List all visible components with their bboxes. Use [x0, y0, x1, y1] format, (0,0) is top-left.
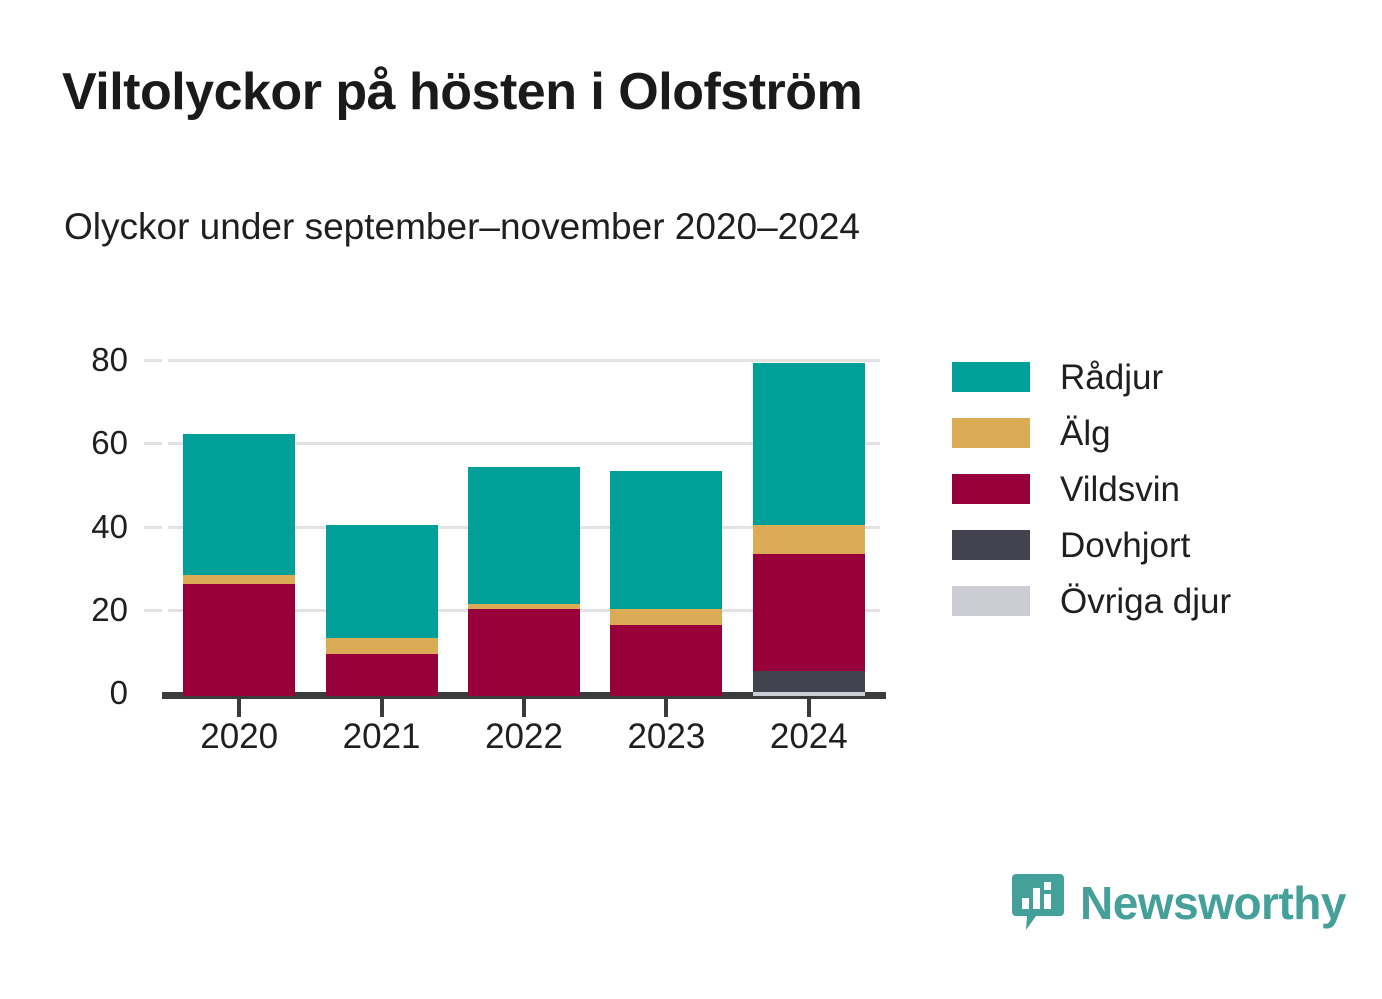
legend-item-4[interactable]: Övriga djur — [952, 573, 1352, 629]
legend-label: Vildsvin — [1060, 472, 1180, 507]
bar-segment[interactable] — [326, 525, 438, 637]
x-tick-label-2022: 2022 — [454, 718, 594, 757]
legend-item-0[interactable]: Rådjur — [952, 349, 1352, 405]
x-tick-label-2020: 2020 — [169, 718, 309, 757]
bar-group-2024[interactable] — [753, 363, 865, 696]
x-tick-mark — [237, 699, 241, 717]
x-tick-label-2023: 2023 — [596, 718, 736, 757]
newsworthy-logo: Newsworthy — [1010, 872, 1346, 934]
bar-chart-speech-bubble-icon — [1010, 872, 1066, 934]
bar-segment[interactable] — [753, 525, 865, 554]
x-tick-mark — [380, 699, 384, 717]
y-tick-mark — [144, 442, 162, 445]
bar-segment[interactable] — [183, 434, 295, 576]
x-tick-mark — [664, 699, 668, 717]
bar-segment[interactable] — [468, 467, 580, 604]
bar-segment[interactable] — [610, 609, 722, 626]
legend-swatch — [952, 586, 1030, 616]
bar-group-2022[interactable] — [468, 363, 580, 696]
bar-segment[interactable] — [753, 692, 865, 696]
y-tick-label: 60 — [68, 426, 128, 459]
legend-swatch — [952, 530, 1030, 560]
y-tick-label: 40 — [68, 510, 128, 543]
bar-segment[interactable] — [753, 363, 865, 525]
y-tick-label: 0 — [68, 676, 128, 709]
legend-swatch — [952, 418, 1030, 448]
legend-label: Rådjur — [1060, 360, 1163, 395]
legend-label: Övriga djur — [1060, 584, 1231, 619]
bar-segment[interactable] — [610, 471, 722, 608]
bar-group-2021[interactable] — [326, 363, 438, 696]
x-tick-label-2021: 2021 — [312, 718, 452, 757]
bar-segment[interactable] — [753, 554, 865, 671]
bar-segment[interactable] — [468, 609, 580, 696]
y-tick-mark — [144, 359, 162, 362]
x-tick-mark — [807, 699, 811, 717]
bar-segment[interactable] — [326, 638, 438, 655]
plot-area — [168, 360, 880, 696]
legend-label: Dovhjort — [1060, 528, 1190, 563]
legend: RådjurÄlgVildsvinDovhjortÖvriga djur — [952, 349, 1352, 629]
bar-segment[interactable] — [183, 575, 295, 583]
page-title: Viltolyckor på hösten i Olofström — [62, 64, 1162, 121]
y-tick-label: 80 — [68, 343, 128, 376]
legend-item-3[interactable]: Dovhjort — [952, 517, 1352, 573]
bar-segment[interactable] — [610, 625, 722, 696]
bar-group-2023[interactable] — [610, 363, 722, 696]
bar-segment[interactable] — [326, 654, 438, 696]
bar-segment[interactable] — [753, 671, 865, 692]
legend-item-1[interactable]: Älg — [952, 405, 1352, 461]
y-tick-mark — [144, 526, 162, 529]
bar-group-2020[interactable] — [183, 363, 295, 696]
legend-label: Älg — [1060, 416, 1111, 451]
x-tick-mark — [522, 699, 526, 717]
chart-subtitle: Olyckor under september–november 2020–20… — [64, 205, 1164, 249]
legend-swatch — [952, 362, 1030, 392]
x-tick-label-2024: 2024 — [739, 718, 879, 757]
legend-item-2[interactable]: Vildsvin — [952, 461, 1352, 517]
y-tick-mark — [144, 609, 162, 612]
y-tick-label: 20 — [68, 593, 128, 626]
bar-segment[interactable] — [183, 584, 295, 696]
logo-wordmark: Newsworthy — [1080, 880, 1346, 926]
bar-segment[interactable] — [468, 604, 580, 608]
legend-swatch — [952, 474, 1030, 504]
